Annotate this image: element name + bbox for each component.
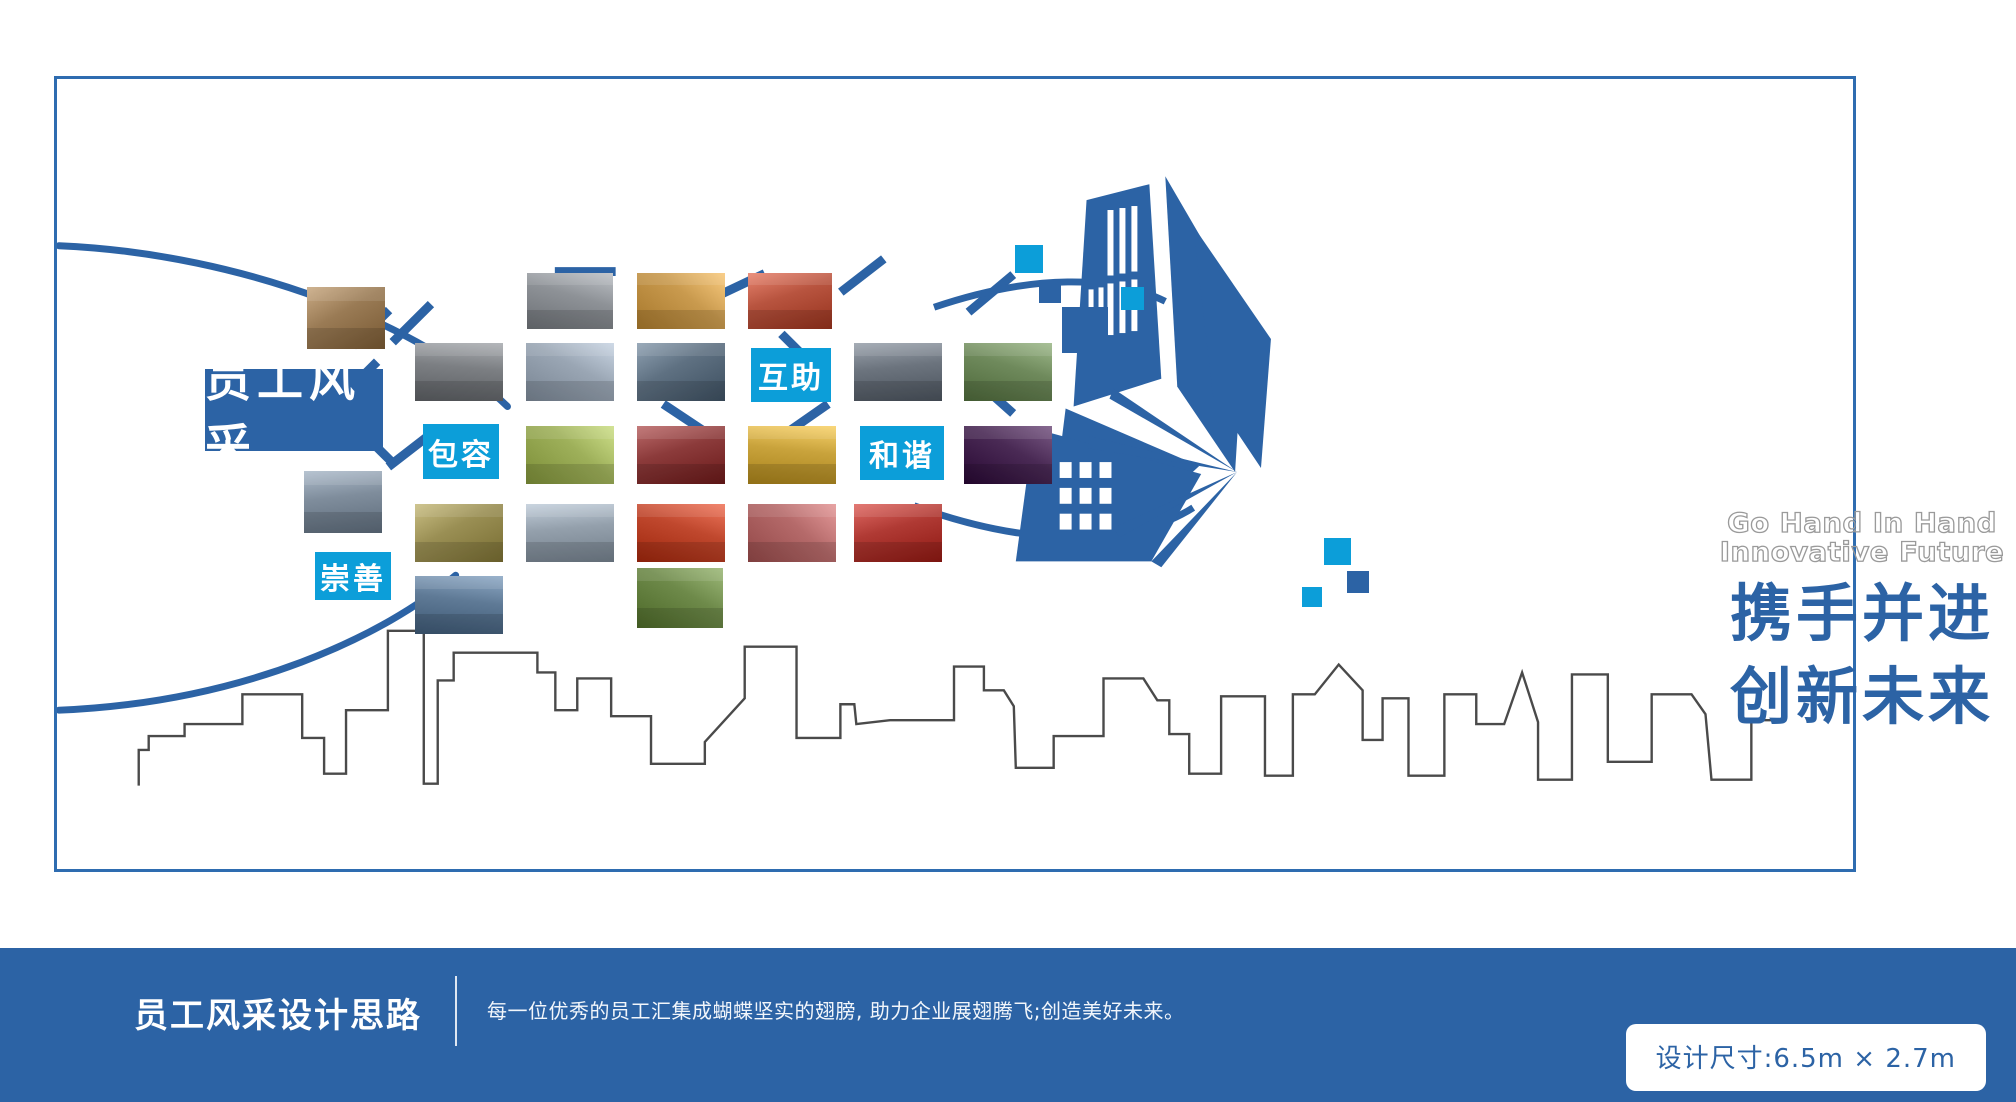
design-size-badge: 设计尺寸:6.5m × 2.7m xyxy=(1626,1024,1986,1091)
chip-chongshan[interactable]: 崇善 xyxy=(315,552,391,600)
photo-image xyxy=(307,287,385,349)
photo-gym-court xyxy=(637,273,725,329)
photo-image xyxy=(415,343,503,401)
photo-red-banner-crowd xyxy=(748,273,832,329)
photo-blue-uniform-line xyxy=(415,576,503,634)
photo-image xyxy=(526,343,614,401)
photo-image xyxy=(637,343,725,401)
square-cyan-3 xyxy=(1324,538,1351,565)
photo-image xyxy=(854,343,942,401)
photo-yellow-vests xyxy=(748,426,836,484)
photo-image xyxy=(415,576,503,634)
square-navy-2 xyxy=(1062,307,1108,353)
photo-safety-helmets xyxy=(304,471,382,533)
slogan-english-line1: Go Hand In Hand xyxy=(1684,509,2016,538)
square-navy-1 xyxy=(1039,281,1061,303)
caption-title: 员工风采设计思路 xyxy=(134,988,422,1037)
photo-image xyxy=(748,426,836,484)
photo-image xyxy=(526,426,614,484)
photo-tree-planting xyxy=(307,287,385,349)
slogan-chinese-line1: 携手并进 xyxy=(1687,577,2016,650)
photo-image xyxy=(748,273,832,329)
photo-city-group xyxy=(526,343,614,401)
square-navy-3 xyxy=(1347,571,1369,593)
photo-flag-ceremony xyxy=(637,426,725,484)
city-skyline xyxy=(139,631,1776,786)
photo-outdoor-team xyxy=(964,343,1052,401)
photo-image xyxy=(637,568,723,628)
photo-image xyxy=(526,504,614,562)
photo-award-ceremony xyxy=(637,504,725,562)
photo-image xyxy=(964,343,1052,401)
slogan-block: Go Hand In Hand Innovative Future 携手并进 创… xyxy=(1687,509,2016,734)
slogan-chinese-line2: 创新未来 xyxy=(1687,660,2016,733)
photo-site-inspection xyxy=(526,504,614,562)
chip-huzhu[interactable]: 互助 xyxy=(751,348,831,402)
chip-baorong[interactable]: 包容 xyxy=(423,424,499,479)
photo-image xyxy=(304,471,382,533)
photo-basketball-match xyxy=(637,343,725,401)
artwork-frame: 员工风采 包容崇善互助和谐 Go Hand In Hand Innovative… xyxy=(54,76,1856,872)
poster-canvas: 员工风采 包容崇善互助和谐 Go Hand In Hand Innovative… xyxy=(0,0,2016,1102)
photo-image xyxy=(964,426,1052,484)
photo-sweeping xyxy=(415,343,503,401)
photo-basketball-duel xyxy=(748,504,836,562)
photo-image xyxy=(748,504,836,562)
square-cyan-1 xyxy=(1015,245,1043,273)
photo-stage-show xyxy=(964,426,1052,484)
photo-image xyxy=(854,504,942,562)
photo-snow-road xyxy=(527,273,613,329)
house-window-grid xyxy=(1060,462,1112,529)
photo-image xyxy=(637,273,725,329)
caption-description: 每一位优秀的员工汇集成蝴蝶坚实的翅膀, 助力企业展翅腾飞;创造美好未来。 xyxy=(487,995,1184,1024)
photo-image xyxy=(637,504,725,562)
photo-warehouse-visit xyxy=(854,343,942,401)
photo-red-flag-group xyxy=(854,504,942,562)
photo-team-tent xyxy=(415,504,503,562)
caption-divider xyxy=(455,976,457,1046)
square-cyan-2 xyxy=(1121,287,1144,310)
building-arcs xyxy=(914,282,1193,537)
building-logo-mark xyxy=(1016,176,1271,567)
photo-image xyxy=(637,426,725,484)
photo-image xyxy=(527,273,613,329)
chip-employee-style[interactable]: 员工风采 xyxy=(205,369,383,451)
photo-vest-training xyxy=(526,426,614,484)
square-cyan-4 xyxy=(1302,587,1322,607)
chip-hexie[interactable]: 和谐 xyxy=(860,426,944,480)
slogan-english-line2: Innovative Future xyxy=(1684,538,2016,567)
photo-cleanup-park xyxy=(637,568,723,628)
photo-image xyxy=(415,504,503,562)
